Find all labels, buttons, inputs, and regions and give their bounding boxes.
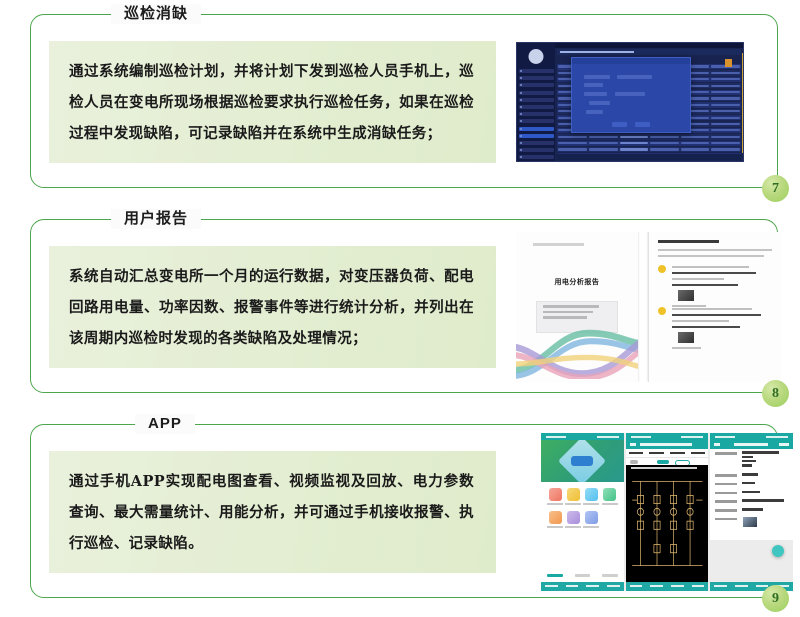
nav-bar [710, 440, 793, 449]
form-field[interactable] [589, 101, 610, 105]
nav-title [640, 443, 692, 446]
defect-photo-thumbnail [678, 290, 694, 301]
detail-row[interactable] [710, 471, 793, 480]
tab-item[interactable] [629, 452, 644, 455]
banner-people-icon [571, 456, 593, 466]
dashboard-menu [519, 69, 554, 162]
text-panel-inspection: 通过系统编制巡检计划，并将计划下发到巡检人员手机上，巡检人员在变电所现场根据巡检… [49, 41, 496, 163]
sidebar-item[interactable] [519, 98, 554, 102]
report-org-line [533, 243, 584, 246]
sidebar-item[interactable] [519, 141, 554, 145]
system-nav-bar [541, 582, 624, 591]
text-panel-report: 系统自动汇总变电所一个月的运行数据，对变压器负荷、配电回路用电量、功率因数、报警… [49, 246, 496, 368]
phone-screen-diagram [626, 433, 709, 591]
detail-row [710, 488, 793, 497]
form-field[interactable] [584, 83, 603, 87]
form-field[interactable] [584, 92, 608, 96]
tab-message[interactable] [575, 574, 591, 577]
more-icon [779, 443, 789, 446]
ribbon-graphic [516, 325, 638, 379]
system-nav-bar [626, 582, 709, 591]
tab-item[interactable] [691, 452, 706, 455]
card-title-report: 用户报告 [111, 209, 201, 229]
card-title-app: APP [135, 414, 195, 434]
card-inspection: 巡检消缺 通过系统编制巡检计划，并将计划下发到巡检人员手机上，巡检人员在变电所现… [30, 14, 778, 188]
defect-entry [658, 265, 772, 310]
app-icon-grid [541, 482, 624, 534]
tab-profile[interactable] [602, 574, 618, 577]
defect-marker-icon [658, 307, 666, 315]
dashboard-footer [557, 154, 741, 160]
app-shortcut[interactable] [564, 511, 582, 528]
app-shortcut[interactable] [546, 511, 564, 528]
paragraph-line [658, 255, 764, 257]
detail-row [710, 506, 793, 515]
entry-line [672, 347, 702, 349]
form-field[interactable] [586, 110, 602, 114]
query-button[interactable] [657, 460, 669, 464]
entry-line [672, 266, 749, 268]
detail-row [710, 449, 793, 471]
report-document-screenshot: 用电分析报告 [516, 232, 781, 382]
one-line-diagram-canvas[interactable] [626, 465, 709, 582]
phone-screens-screenshot [541, 433, 793, 591]
home-banner [541, 440, 624, 482]
sidebar-item[interactable] [519, 69, 554, 73]
card-body-app: 通过手机APP实现配电图查看、视频监视及回放、电力参数查询、最大需量统计、用能分… [49, 466, 496, 559]
poster-page: 巡检消缺 通过系统编制巡检计划，并将计划下发到巡检人员手机上，巡检人员在变电所现… [0, 0, 800, 617]
nav-bar [626, 440, 709, 449]
entry-line [672, 314, 761, 316]
diagram-title [631, 467, 697, 469]
report-detail-page [648, 232, 782, 382]
card-title-inspection: 巡检消缺 [111, 4, 201, 24]
sidebar-item[interactable] [519, 148, 554, 152]
section-heading [658, 240, 719, 243]
dashboard-sidebar [517, 43, 555, 161]
status-badge [725, 59, 732, 67]
card-app: APP 通过手机APP实现配电图查看、视频监视及回放、电力参数查询、最大需量统计… [30, 424, 778, 598]
entry-line [672, 284, 738, 286]
modal-dialog [571, 57, 691, 133]
tab-item[interactable] [670, 452, 685, 455]
nav-title [734, 443, 768, 446]
sidebar-item[interactable] [519, 76, 554, 80]
entry-line [672, 272, 756, 274]
phone-screen-detail [710, 433, 793, 591]
sidebar-item-active[interactable] [519, 134, 554, 138]
dashboard-header [557, 49, 741, 55]
avatar [529, 49, 544, 64]
app-shortcut[interactable] [546, 488, 564, 505]
paragraph-line [658, 249, 772, 251]
report-cover-page: 用电分析报告 [516, 232, 638, 382]
report-cover-title: 用电分析报告 [516, 277, 638, 287]
sidebar-item[interactable] [519, 155, 554, 159]
dashboard-screenshot [516, 42, 744, 162]
floating-action-button[interactable] [772, 545, 784, 557]
app-shortcut[interactable] [564, 488, 582, 505]
sidebar-item-active[interactable] [519, 127, 554, 131]
detail-row[interactable] [710, 480, 793, 489]
attachment-thumbnail [743, 517, 757, 527]
sidebar-item[interactable] [519, 83, 554, 87]
detail-row [710, 515, 793, 529]
table-row[interactable] [557, 147, 741, 152]
cancel-button[interactable] [635, 122, 650, 127]
status-bar [710, 433, 793, 440]
step-badge-9: 9 [762, 585, 789, 612]
app-shortcut[interactable] [582, 511, 600, 528]
filter-label [630, 460, 638, 464]
sidebar-item[interactable] [519, 91, 554, 95]
bottom-tab-bar[interactable] [541, 571, 624, 582]
status-bar [541, 433, 624, 440]
step-badge-7: 7 [762, 175, 789, 202]
entry-line [672, 320, 729, 322]
status-bar [626, 433, 709, 440]
entry-line [672, 326, 740, 328]
confirm-button[interactable] [612, 122, 627, 127]
app-shortcut[interactable] [582, 488, 600, 505]
card-report: 用户报告 系统自动汇总变电所一个月的运行数据，对变压器负荷、配电回路用电量、功率… [30, 219, 778, 393]
entry-line [672, 308, 752, 310]
defect-photo-thumbnail [678, 332, 694, 343]
sidebar-item[interactable] [519, 105, 554, 109]
modal-title-bar [572, 58, 690, 64]
form-field[interactable] [617, 75, 652, 79]
table-row[interactable] [557, 134, 741, 139]
tab-home[interactable] [547, 574, 563, 577]
step-badge-8: 8 [762, 380, 789, 407]
app-shortcut[interactable] [600, 488, 618, 505]
sidebar-item[interactable] [519, 112, 554, 116]
text-panel-app: 通过手机APP实现配电图查看、视频监视及回放、电力参数查询、最大需量统计、用能分… [49, 451, 496, 573]
back-icon [714, 443, 720, 446]
card-body-report: 系统自动汇总变电所一个月的运行数据，对变压器负荷、配电回路用电量、功率因数、报警… [49, 261, 496, 354]
defect-entry [658, 307, 772, 352]
tab-row[interactable] [626, 449, 709, 458]
phone-screen-home [541, 433, 624, 591]
sidebar-item[interactable] [519, 119, 554, 123]
detail-row [710, 497, 793, 506]
scrollbar[interactable] [742, 53, 744, 153]
tab-item[interactable] [649, 452, 664, 455]
diagram-svg [626, 465, 709, 582]
defect-marker-icon [658, 265, 666, 273]
form-field[interactable] [584, 75, 610, 79]
card-body-inspection: 通过系统编制巡检计划，并将计划下发到巡检人员手机上，巡检人员在变电所现场根据巡检… [49, 56, 496, 149]
entry-line [672, 278, 724, 280]
table-row[interactable] [557, 141, 741, 146]
back-icon [630, 443, 636, 446]
form-field[interactable] [615, 92, 646, 96]
